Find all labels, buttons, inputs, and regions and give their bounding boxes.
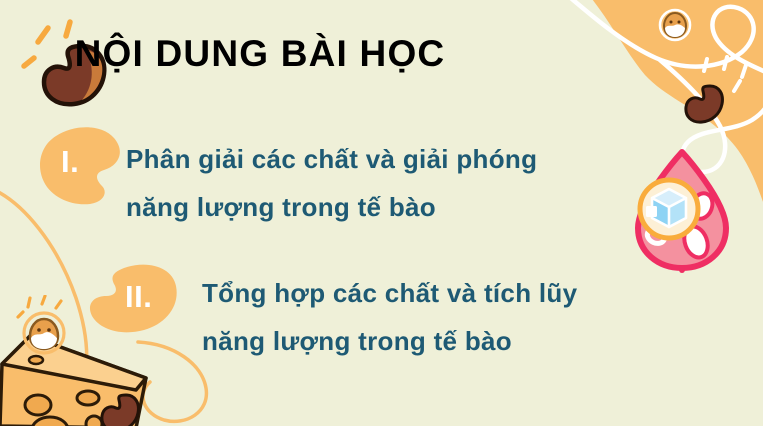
egg-face-bottom-left-icon [16, 295, 92, 365]
content-item-2-text: Tổng hợp các chất và tích lũy năng lượng… [202, 269, 577, 365]
content-item-1-line-1: Phân giải các chất và giải phóng [126, 144, 537, 174]
cheese-wedge-icon [0, 330, 164, 426]
content-item-2-line-1: Tổng hợp các chất và tích lũy [202, 278, 577, 308]
blood-drop-with-cells-icon [630, 148, 735, 273]
content-item-1-text: Phân giải các chất và giải phóng năng lư… [126, 135, 537, 231]
content-item-1-line-2: năng lượng trong tế bào [126, 183, 537, 231]
numeral-label-2: II. [125, 279, 152, 315]
white-dashes-top-right-icon [700, 55, 756, 101]
numeral-label-1: I. [61, 144, 79, 180]
content-item-2-line-2: năng lượng trong tế bào [202, 317, 577, 365]
kidney-bean-top-right-icon [683, 82, 727, 124]
egg-face-top-right-icon [655, 4, 695, 46]
kidney-bean-bottom-left-icon [98, 390, 144, 426]
slide-canvas: NỘI DUNG BÀI HỌC I. Phân giải các chất v… [0, 0, 763, 426]
numeral-blob-1-icon [36, 122, 132, 206]
page-title: NỘI DUNG BÀI HỌC [0, 33, 520, 75]
blue-cube-badge-icon [636, 176, 702, 242]
